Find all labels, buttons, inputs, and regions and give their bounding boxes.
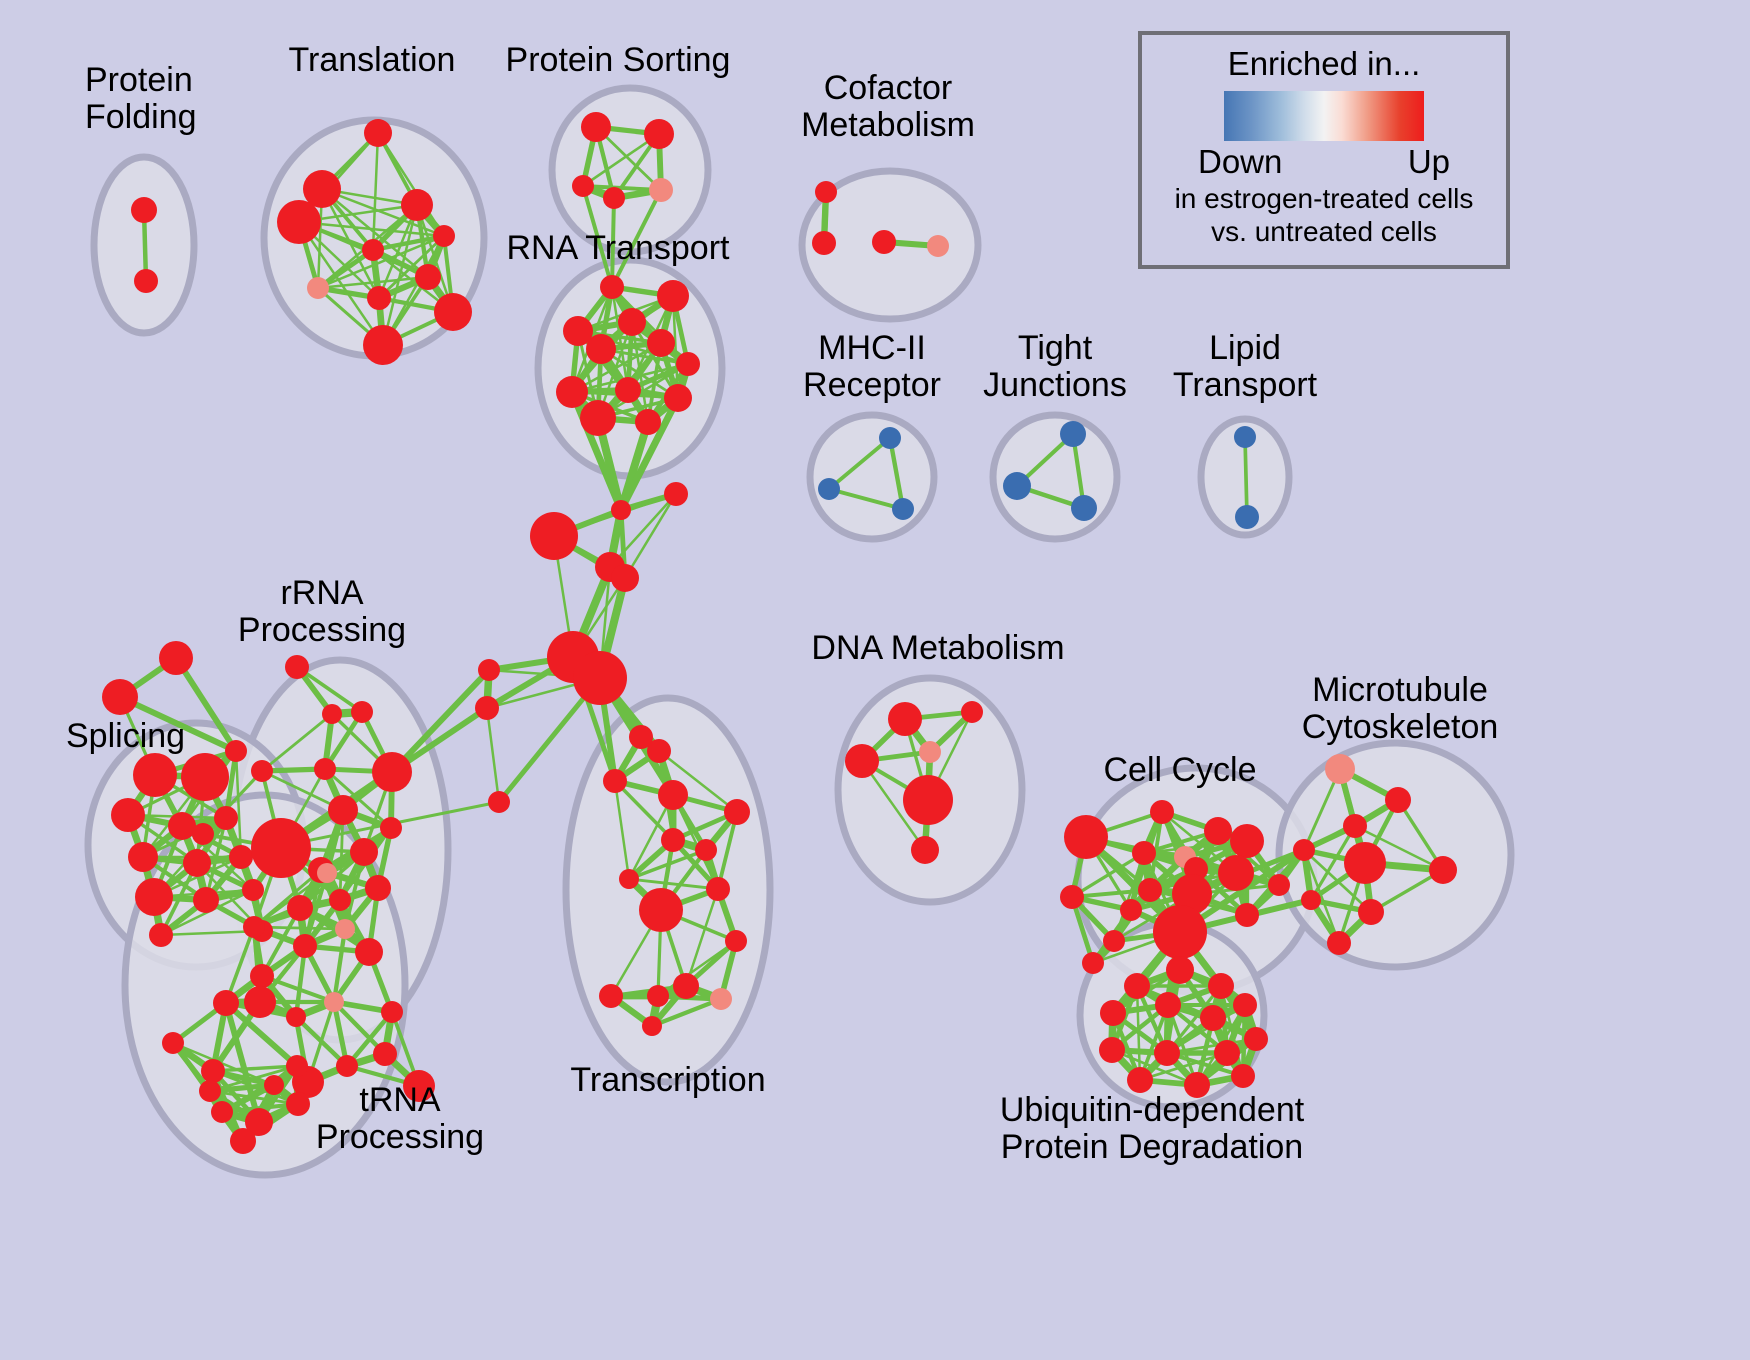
legend-subtitle-line-2: vs. untreated cells — [1211, 216, 1437, 247]
network-node — [264, 1075, 284, 1095]
network-node — [287, 895, 313, 921]
network-node — [1132, 841, 1156, 865]
network-node — [213, 990, 239, 1016]
network-node — [1343, 814, 1367, 838]
network-node — [335, 919, 355, 939]
network-node — [363, 325, 403, 365]
network-node — [277, 200, 321, 244]
network-node — [1268, 874, 1290, 896]
cluster-hull-mhc-ii-receptor — [810, 415, 934, 539]
network-node — [434, 293, 472, 331]
network-node — [364, 119, 392, 147]
network-node — [211, 1101, 233, 1123]
network-node — [134, 269, 158, 293]
network-node — [329, 889, 351, 911]
network-node — [201, 1059, 225, 1083]
legend-down-label: Down — [1198, 143, 1282, 181]
network-node — [286, 1055, 308, 1077]
network-node — [251, 760, 273, 782]
network-node — [892, 498, 914, 520]
network-node — [324, 992, 344, 1012]
network-node — [647, 329, 675, 357]
network-node — [373, 1042, 397, 1066]
network-node — [1082, 952, 1104, 974]
network-node — [1235, 505, 1259, 529]
network-node — [644, 119, 674, 149]
network-node — [657, 280, 689, 312]
network-node — [286, 1092, 310, 1116]
network-node — [192, 823, 214, 845]
network-node — [365, 875, 391, 901]
network-node — [573, 651, 627, 705]
network-node — [911, 836, 939, 864]
network-node — [961, 701, 983, 723]
network-node — [635, 409, 661, 435]
network-node — [556, 376, 588, 408]
network-node — [1344, 842, 1386, 884]
network-node — [1214, 1040, 1240, 1066]
network-node — [131, 197, 157, 223]
network-node — [618, 308, 646, 336]
network-node — [111, 798, 145, 832]
network-node — [181, 753, 229, 801]
network-node — [845, 744, 879, 778]
network-node — [676, 352, 700, 376]
network-node — [317, 863, 337, 883]
network-node — [1127, 1067, 1153, 1093]
network-node — [888, 702, 922, 736]
network-node — [193, 887, 219, 913]
network-node — [530, 512, 578, 560]
network-node — [229, 845, 253, 869]
network-node — [1184, 1072, 1210, 1098]
network-node — [350, 838, 378, 866]
network-node — [1244, 1027, 1268, 1051]
network-node — [286, 1007, 306, 1027]
legend-title: Enriched in... — [1228, 45, 1421, 83]
network-node — [1124, 973, 1150, 999]
network-node — [1155, 992, 1181, 1018]
network-node — [1235, 903, 1259, 927]
network-node — [1103, 930, 1125, 952]
legend-colorbar — [1224, 91, 1424, 141]
enrichment-map-figure: Protein FoldingTranslationProtein Sortin… — [0, 0, 1750, 1360]
network-node — [183, 849, 211, 877]
network-node — [475, 696, 499, 720]
cluster-hull-protein-sorting — [552, 88, 708, 252]
network-node — [1233, 993, 1257, 1017]
network-node — [135, 878, 173, 916]
network-node — [619, 869, 639, 889]
network-node — [818, 478, 840, 500]
network-node — [695, 839, 717, 861]
network-node — [351, 701, 373, 723]
network-node — [725, 930, 747, 952]
legend-up-label: Up — [1408, 143, 1450, 181]
network-node — [367, 286, 391, 310]
network-node — [812, 231, 836, 255]
network-node — [1060, 421, 1086, 447]
network-node — [599, 984, 623, 1008]
network-node — [586, 334, 616, 364]
network-edge — [487, 708, 499, 802]
network-node — [250, 964, 274, 988]
network-node — [1218, 855, 1254, 891]
network-node — [401, 189, 433, 221]
network-node — [362, 239, 384, 261]
network-node — [1099, 1037, 1125, 1063]
network-node — [168, 812, 196, 840]
network-node — [214, 806, 238, 830]
network-node — [1060, 885, 1084, 909]
network-node — [1325, 754, 1355, 784]
network-node — [706, 877, 730, 901]
network-node — [611, 564, 639, 592]
network-node — [1234, 426, 1256, 448]
network-node — [293, 934, 317, 958]
network-node — [372, 752, 412, 792]
network-node — [162, 1032, 184, 1054]
network-node — [1120, 899, 1142, 921]
network-node — [478, 659, 500, 681]
network-node — [244, 986, 276, 1018]
network-node — [649, 178, 673, 202]
network-node — [380, 817, 402, 839]
network-node — [639, 888, 683, 932]
network-node — [1150, 800, 1174, 824]
network-node — [199, 1080, 221, 1102]
network-edge — [1245, 437, 1247, 517]
network-node — [128, 842, 158, 872]
network-node — [328, 795, 358, 825]
network-node — [927, 235, 949, 257]
network-node — [1071, 495, 1097, 521]
network-node — [314, 758, 336, 780]
network-node — [242, 879, 264, 901]
network-node — [133, 753, 177, 797]
network-node — [603, 187, 625, 209]
network-node — [381, 1001, 403, 1023]
network-node — [1166, 956, 1194, 984]
network-node — [580, 400, 616, 436]
network-node — [159, 641, 193, 675]
network-node — [1293, 839, 1315, 861]
network-node — [102, 679, 138, 715]
network-node — [872, 230, 896, 254]
network-node — [1064, 815, 1108, 859]
network-node — [243, 916, 265, 938]
network-node — [647, 985, 669, 1007]
network-node — [724, 799, 750, 825]
network-node — [903, 775, 953, 825]
network-node — [673, 973, 699, 999]
network-node — [433, 225, 455, 247]
network-node — [1301, 890, 1321, 910]
network-node — [1429, 856, 1457, 884]
network-node — [403, 1070, 435, 1102]
legend-subtitle-line-1: in estrogen-treated cells — [1175, 183, 1474, 214]
network-node — [1385, 787, 1411, 813]
network-node — [251, 818, 311, 878]
network-node — [815, 181, 837, 203]
network-node — [647, 739, 671, 763]
network-edge — [612, 198, 614, 287]
network-node — [581, 112, 611, 142]
network-node — [710, 988, 732, 1010]
network-node — [1200, 1005, 1226, 1031]
network-node — [1003, 472, 1031, 500]
network-node — [285, 655, 309, 679]
network-node — [307, 277, 329, 299]
network-node — [488, 791, 510, 813]
network-node — [1153, 905, 1207, 959]
network-node — [336, 1055, 358, 1077]
network-node — [230, 1128, 256, 1154]
network-node — [1230, 824, 1264, 858]
cluster-hull-microtubule — [1279, 743, 1511, 967]
network-node — [1208, 973, 1234, 999]
network-node — [664, 384, 692, 412]
legend-panel: Enriched in... Down Up in estrogen-treat… — [1138, 31, 1510, 269]
network-node — [322, 704, 342, 724]
network-node — [1138, 878, 1162, 902]
network-node — [149, 923, 173, 947]
network-node — [642, 1016, 662, 1036]
network-node — [225, 740, 247, 762]
network-node — [1358, 899, 1384, 925]
network-node — [355, 938, 383, 966]
network-node — [661, 828, 685, 852]
network-node — [1327, 931, 1351, 955]
legend-endpoints: Down Up — [1198, 143, 1450, 181]
network-node — [615, 377, 641, 403]
network-node — [611, 500, 631, 520]
network-node — [572, 175, 594, 197]
network-node — [1204, 817, 1232, 845]
network-node — [1154, 1040, 1180, 1066]
network-node — [600, 275, 624, 299]
network-node — [415, 264, 441, 290]
network-node — [603, 769, 627, 793]
network-node — [664, 482, 688, 506]
network-node — [1100, 1000, 1126, 1026]
network-node — [1231, 1064, 1255, 1088]
network-node — [919, 741, 941, 763]
network-node — [879, 427, 901, 449]
network-node — [658, 780, 688, 810]
